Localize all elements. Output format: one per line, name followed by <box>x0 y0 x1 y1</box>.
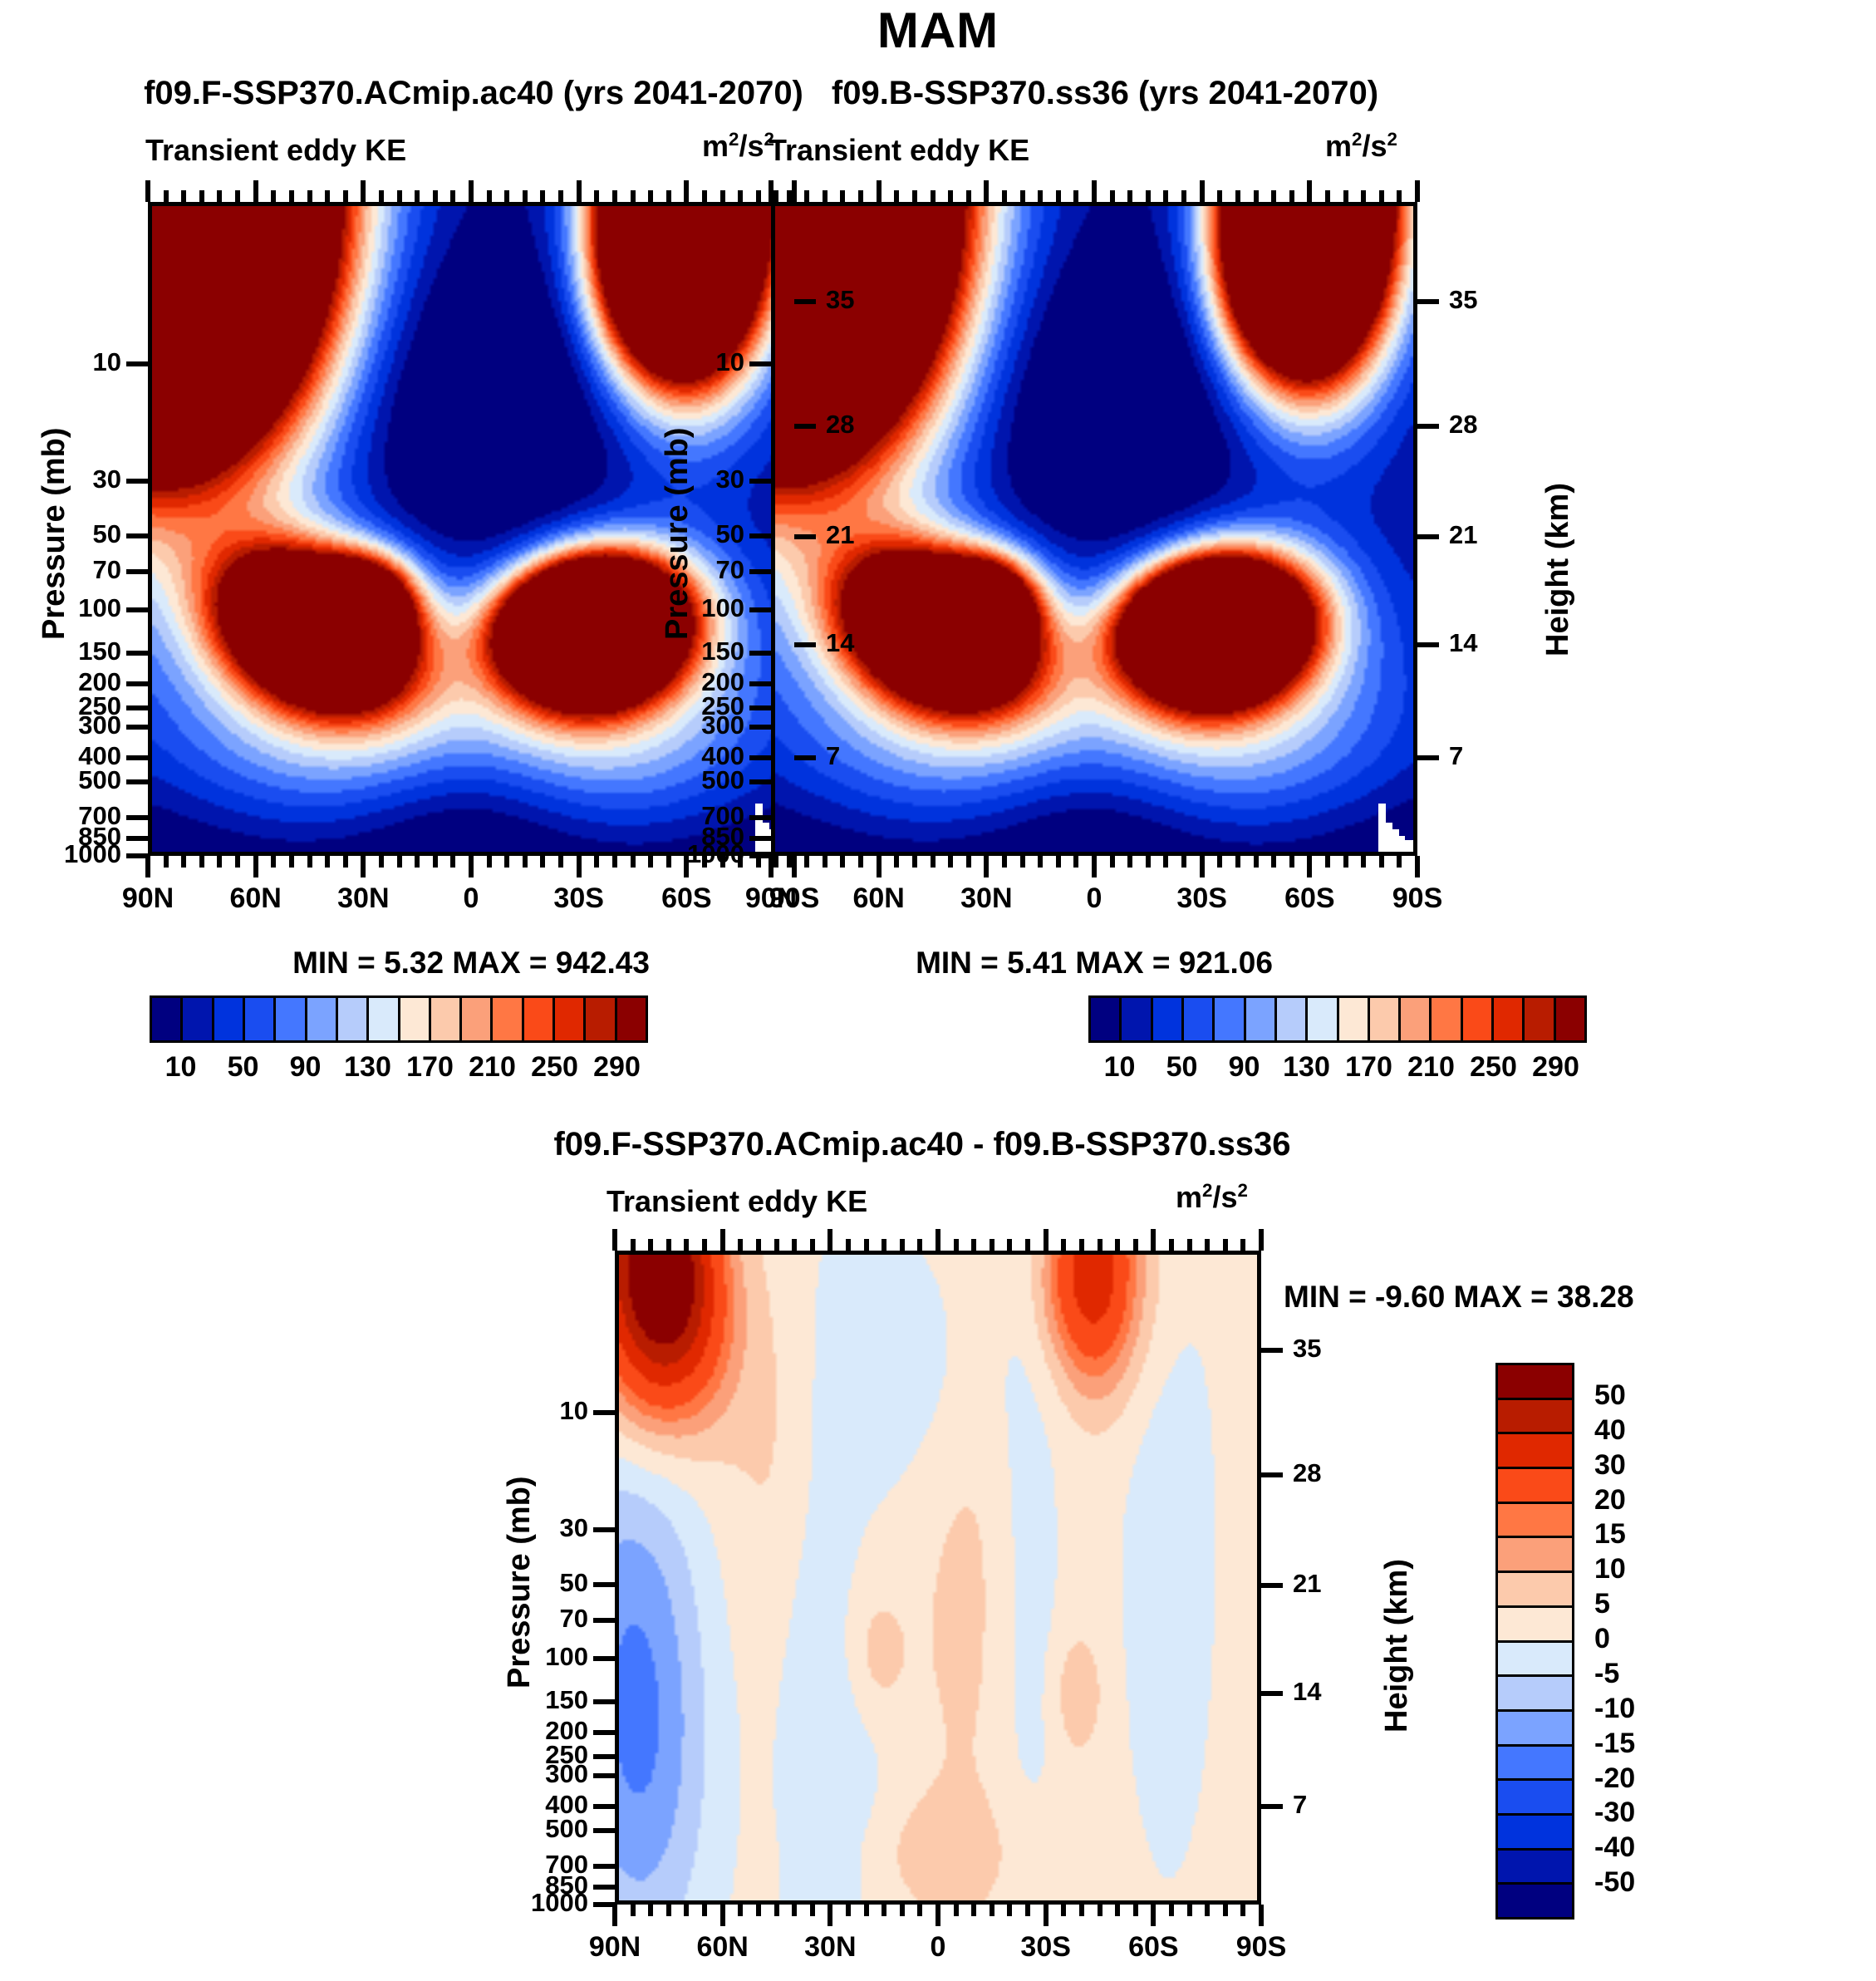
height-tick <box>794 424 816 429</box>
colorbar-tick-label: 290 <box>567 1051 667 1084</box>
latitude-tick-minor-bottom <box>648 1905 653 1916</box>
contour-canvas <box>619 1255 1257 1900</box>
colorbar-cell <box>1091 998 1122 1040</box>
latitude-tick-minor-top <box>1187 1239 1192 1251</box>
height-tick <box>1417 424 1439 429</box>
latitude-tick-major-bottom <box>1151 1905 1156 1926</box>
latitude-tick-minor-bottom <box>1007 1905 1012 1916</box>
latitude-tick-minor-bottom <box>1056 856 1061 868</box>
colorbar-tick-label: 0 <box>1594 1623 1719 1655</box>
latitude-tick-minor-top <box>648 1239 653 1251</box>
latitude-tick-minor-top <box>1127 190 1132 202</box>
pressure-tick <box>126 651 148 656</box>
colorbar-cell <box>1556 998 1584 1040</box>
colorbar-cell <box>369 998 400 1040</box>
latitude-tick-major-bottom <box>828 1905 832 1926</box>
pressure-tick <box>593 1582 615 1587</box>
latitude-tick-minor-top <box>1325 190 1330 202</box>
latitude-tick-minor-top <box>804 190 809 202</box>
latitude-tick-minor-top <box>415 190 420 202</box>
colorbar-cell <box>276 998 307 1040</box>
latitude-tick-minor-top <box>325 190 330 202</box>
latitude-tick-major-top <box>1092 180 1097 202</box>
latitude-tick-minor-top <box>787 190 792 202</box>
latitude-tick-minor-bottom <box>948 856 953 868</box>
latitude-tick-minor-bottom <box>379 856 384 868</box>
panel-top-left-units: m2/s2 <box>702 129 774 164</box>
latitude-tick-minor-top <box>917 1239 922 1251</box>
pressure-tick <box>749 681 771 686</box>
latitude-tick-minor-bottom <box>1025 1905 1030 1916</box>
pressure-tick <box>749 607 771 612</box>
latitude-tick-minor-top <box>846 1239 851 1251</box>
pressure-tick <box>126 479 148 484</box>
latitude-tick-minor-bottom <box>1146 856 1151 868</box>
colorbar-tick-label: -50 <box>1594 1866 1719 1899</box>
latitude-tick-minor-bottom <box>684 1905 689 1916</box>
colorbar-cell <box>1498 1608 1572 1643</box>
panel-top-left-minmax: MIN = 5.32 MAX = 942.43 <box>148 946 794 981</box>
latitude-tick-minor-bottom <box>1079 1905 1084 1916</box>
latitude-tick-minor-bottom <box>415 856 420 868</box>
panel-bottom-diff-colorbar[interactable] <box>1495 1363 1574 1920</box>
panel-top-right-ylabel-right: Height (km) <box>1540 483 1576 656</box>
latitude-tick-minor-bottom <box>1271 856 1276 868</box>
colorbar-cell <box>1153 998 1184 1040</box>
pressure-tick <box>593 1410 615 1415</box>
latitude-tick-minor-bottom <box>1205 1905 1210 1916</box>
colorbar-cell <box>1122 998 1152 1040</box>
latitude-tick-minor-bottom <box>181 856 186 868</box>
latitude-tick-major-bottom <box>1092 856 1097 877</box>
latitude-tick-minor-top <box>1271 190 1276 202</box>
latitude-tick-minor-top <box>1223 1239 1228 1251</box>
latitude-tick-minor-bottom <box>756 1905 761 1916</box>
colorbar-cell <box>152 998 183 1040</box>
height-tick <box>794 642 816 647</box>
latitude-tick-minor-top <box>1115 1239 1120 1251</box>
latitude-tick-major-bottom <box>577 856 582 877</box>
pressure-tick <box>593 1804 615 1809</box>
latitude-tick-major-top <box>361 180 366 202</box>
height-tick <box>794 755 816 760</box>
colorbar-tick-label: -5 <box>1594 1658 1719 1690</box>
latitude-tick-major-bottom <box>936 1905 940 1926</box>
latitude-tick-minor-bottom <box>774 1905 779 1916</box>
latitude-tick-major-bottom <box>1307 856 1312 877</box>
colorbar-tick-label: 50 <box>1594 1379 1719 1412</box>
latitude-tick-minor-top <box>1240 1239 1245 1251</box>
colorbar-tick-label: 10 <box>1594 1553 1719 1585</box>
pressure-tick-label: 500 <box>638 765 744 795</box>
latitude-tick-major-top <box>877 180 882 202</box>
latitude-tick-minor-top <box>1098 1239 1103 1251</box>
colorbar-tick-label: 15 <box>1594 1518 1719 1551</box>
height-tick <box>1417 642 1439 647</box>
latitude-tick-minor-bottom <box>523 856 528 868</box>
latitude-tick-minor-top <box>164 190 169 202</box>
terrain-mask <box>1403 840 1415 853</box>
height-tick <box>1261 1348 1283 1353</box>
latitude-tick-minor-bottom <box>792 1905 797 1916</box>
panel-top-left-colorbar[interactable] <box>150 995 648 1043</box>
height-tick-label: 14 <box>1293 1677 1368 1707</box>
latitude-tick-major-top <box>792 180 797 202</box>
latitude-tick-minor-bottom <box>917 1905 922 1916</box>
pressure-tick-label: 100 <box>638 593 744 623</box>
latitude-tick-minor-bottom <box>289 856 294 868</box>
colorbar-cell <box>493 998 523 1040</box>
latitude-tick-minor-bottom <box>1223 1905 1228 1916</box>
pressure-tick <box>749 569 771 574</box>
colorbar-cell <box>1498 1747 1572 1782</box>
latitude-tick-minor-bottom <box>235 856 240 868</box>
latitude-tick-minor-top <box>756 190 761 202</box>
latitude-tick-minor-bottom <box>1098 1905 1103 1916</box>
panel-top-right-title: f09.B-SSP370.ss36 (yrs 2041-2070) <box>731 75 1479 112</box>
latitude-tick-minor-bottom <box>1343 856 1348 868</box>
pressure-tick <box>749 533 771 538</box>
latitude-tick-minor-top <box>1038 190 1043 202</box>
latitude-tick-minor-bottom <box>558 856 563 868</box>
latitude-tick-minor-bottom <box>773 856 778 868</box>
colorbar-cell <box>1498 1400 1572 1435</box>
latitude-tick-minor-bottom <box>804 856 809 868</box>
height-tick-label: 35 <box>826 285 901 315</box>
latitude-tick-major-bottom <box>1044 1905 1048 1926</box>
latitude-tick-minor-top <box>990 1239 994 1251</box>
latitude-tick-minor-bottom <box>954 1905 959 1916</box>
colorbar-cell <box>1498 1504 1572 1539</box>
colorbar-cell <box>1184 998 1215 1040</box>
latitude-tick-minor-top <box>594 190 599 202</box>
latitude-tick-minor-top <box>882 1239 886 1251</box>
latitude-tick-minor-top <box>648 190 653 202</box>
colorbar-cell <box>214 998 245 1040</box>
figure-title: MAM <box>0 2 1876 59</box>
colorbar-cell <box>1498 1781 1572 1816</box>
height-tick-label: 28 <box>1293 1458 1368 1488</box>
colorbar-cell <box>1215 998 1245 1040</box>
pressure-tick <box>593 1773 615 1778</box>
latitude-tick-minor-top <box>1361 190 1366 202</box>
colorbar-cell <box>1463 998 1494 1040</box>
colorbar-cell <box>1498 1573 1572 1608</box>
latitude-tick-minor-top <box>738 190 743 202</box>
latitude-tick-minor-top <box>271 190 276 202</box>
latitude-tick-minor-bottom <box>738 1905 743 1916</box>
latitude-tick-major-top <box>1307 180 1312 202</box>
pressure-tick-label: 150 <box>482 1685 588 1715</box>
pressure-tick <box>126 755 148 760</box>
latitude-tick-minor-top <box>666 1239 671 1251</box>
colorbar-cell <box>1339 998 1370 1040</box>
colorbar-tick-label: -30 <box>1594 1797 1719 1829</box>
latitude-tick-minor-top <box>1007 1239 1012 1251</box>
latitude-tick-major-bottom <box>769 856 773 877</box>
panel-bottom-diff-contour-field <box>619 1255 1257 1900</box>
pressure-tick <box>126 705 148 710</box>
latitude-tick-major-bottom <box>792 856 797 877</box>
pressure-tick <box>126 815 148 820</box>
pressure-tick <box>593 1864 615 1869</box>
height-tick-label: 35 <box>1449 285 1524 315</box>
height-tick-label: 35 <box>1293 1334 1368 1364</box>
pressure-tick-label: 300 <box>15 710 121 740</box>
colorbar-cell <box>1308 998 1338 1040</box>
height-tick <box>794 299 816 304</box>
latitude-tick-minor-top <box>217 190 222 202</box>
latitude-tick-minor-top <box>858 190 863 202</box>
colorbar-tick-label: -15 <box>1594 1728 1719 1760</box>
pressure-tick <box>126 569 148 574</box>
latitude-tick-major-top <box>720 1229 725 1251</box>
pressure-tick-label: 300 <box>482 1759 588 1789</box>
pressure-tick <box>126 681 148 686</box>
pressure-tick-label: 70 <box>482 1604 588 1634</box>
latitude-tick-major-top <box>1151 1229 1156 1251</box>
latitude-tick-minor-top <box>1235 190 1240 202</box>
height-tick-label: 21 <box>1449 520 1524 550</box>
latitude-tick-minor-bottom <box>1127 856 1132 868</box>
latitude-tick-minor-bottom <box>858 856 863 868</box>
height-tick <box>1261 1804 1283 1809</box>
pressure-tick-label: 100 <box>15 593 121 623</box>
latitude-tick-minor-bottom <box>1217 856 1222 868</box>
pressure-tick-label: 70 <box>638 555 744 585</box>
latitude-tick-minor-bottom <box>702 1905 707 1916</box>
latitude-tick-minor-top <box>289 190 294 202</box>
pressure-tick-label: 150 <box>638 637 744 666</box>
colorbar-cell <box>1498 1469 1572 1504</box>
latitude-tick-minor-top <box>1217 190 1222 202</box>
latitude-tick-minor-bottom <box>540 856 545 868</box>
latitude-tick-minor-top <box>1020 190 1025 202</box>
latitude-tick-minor-bottom <box>343 856 348 868</box>
latitude-tick-minor-top <box>702 190 707 202</box>
latitude-tick-minor-bottom <box>971 1905 976 1916</box>
latitude-tick-minor-bottom <box>217 856 222 868</box>
latitude-tick-minor-top <box>971 1239 976 1251</box>
colorbar-cell <box>1432 998 1462 1040</box>
latitude-tick-major-top <box>828 1229 832 1251</box>
height-tick-label: 28 <box>1449 410 1524 440</box>
colorbar-cell <box>555 998 586 1040</box>
colorbar-cell <box>1498 1851 1572 1885</box>
pressure-tick <box>593 1754 615 1759</box>
colorbar-cell <box>1498 1677 1572 1712</box>
colorbar-cell <box>462 998 493 1040</box>
latitude-tick-major-bottom <box>469 856 474 877</box>
latitude-tick-major-top <box>612 1229 617 1251</box>
pressure-tick-label: 500 <box>482 1814 588 1844</box>
colorbar-tick-label: -40 <box>1594 1831 1719 1864</box>
pressure-tick <box>749 479 771 484</box>
latitude-tick-minor-bottom <box>864 1905 869 1916</box>
latitude-tick-major-top <box>145 180 150 202</box>
latitude-tick-minor-top <box>631 1239 636 1251</box>
height-tick <box>1261 1583 1283 1588</box>
pressure-tick <box>126 725 148 730</box>
latitude-tick-minor-bottom <box>325 856 330 868</box>
latitude-tick-major-bottom <box>720 1905 725 1926</box>
latitude-tick-minor-bottom <box>1115 1905 1120 1916</box>
latitude-tick-minor-bottom <box>1020 856 1025 868</box>
latitude-tick-minor-bottom <box>271 856 276 868</box>
latitude-tick-minor-top <box>1205 1239 1210 1251</box>
colorbar-tick-label: -10 <box>1594 1693 1719 1725</box>
latitude-tick-minor-bottom <box>1002 856 1007 868</box>
latitude-tick-minor-bottom <box>1325 856 1330 868</box>
pressure-tick-label: 10 <box>638 347 744 377</box>
panel-top-right-minmax: MIN = 5.41 MAX = 921.06 <box>771 946 1417 981</box>
pressure-tick <box>593 1656 615 1661</box>
latitude-tick-major-bottom <box>253 856 258 877</box>
pressure-tick-label: 150 <box>15 637 121 666</box>
latitude-tick-minor-bottom <box>840 856 845 868</box>
pressure-tick <box>593 1828 615 1833</box>
latitude-tick-minor-bottom <box>631 856 636 868</box>
latitude-tick-minor-bottom <box>1187 1905 1192 1916</box>
latitude-tick-minor-bottom <box>307 856 312 868</box>
panel-bottom-diff-ylabel-right: Height (km) <box>1379 1559 1415 1733</box>
latitude-tick-minor-bottom <box>1110 856 1115 868</box>
latitude-tick-minor-bottom <box>966 856 971 868</box>
colorbar-cell <box>1246 998 1277 1040</box>
latitude-tick-major-bottom <box>1415 856 1420 877</box>
latitude-tick-major-top <box>1415 180 1420 202</box>
pressure-tick-label: 50 <box>482 1568 588 1598</box>
latitude-tick-minor-top <box>1025 1239 1030 1251</box>
pressure-tick <box>749 779 771 784</box>
colorbar-cell <box>183 998 214 1040</box>
latitude-tick-minor-bottom <box>164 856 169 868</box>
pressure-tick <box>126 361 148 366</box>
colorbar-cell <box>1498 1538 1572 1573</box>
colorbar-cell <box>1370 998 1401 1040</box>
pressure-tick-label: 1000 <box>15 839 121 869</box>
latitude-tick-minor-bottom <box>1038 856 1043 868</box>
latitude-tick-minor-top <box>1163 190 1168 202</box>
latitude-tick-minor-bottom <box>1235 856 1240 868</box>
latitude-tick-major-bottom <box>145 856 150 877</box>
latitude-tick-minor-bottom <box>504 856 509 868</box>
height-tick <box>1261 1691 1283 1696</box>
latitude-tick-major-top <box>1200 180 1205 202</box>
pressure-tick <box>749 361 771 366</box>
latitude-tick-minor-top <box>1056 190 1061 202</box>
panel-bottom-diff-minmax: MIN = -9.60 MAX = 38.28 <box>1284 1280 1799 1315</box>
colorbar-tick-label: 30 <box>1594 1449 1719 1482</box>
pressure-tick-label: 1000 <box>638 839 744 869</box>
colorbar-tick-label: 5 <box>1594 1588 1719 1620</box>
pressure-tick <box>749 755 771 760</box>
pressure-tick <box>593 1618 615 1623</box>
latitude-tick-minor-top <box>840 190 845 202</box>
pressure-tick-label: 30 <box>482 1513 588 1543</box>
latitude-tick-minor-top <box>612 190 617 202</box>
latitude-tick-minor-top <box>558 190 563 202</box>
latitude-tick-minor-top <box>756 1239 761 1251</box>
latitude-tick-minor-top <box>1343 190 1348 202</box>
latitude-tick-minor-top <box>343 190 348 202</box>
latitude-tick-minor-top <box>720 190 725 202</box>
latitude-tick-minor-bottom <box>433 856 438 868</box>
height-tick-label: 28 <box>826 410 901 440</box>
panel-top-right-units: m2/s2 <box>1325 129 1397 164</box>
latitude-tick-minor-bottom <box>900 1905 905 1916</box>
latitude-tick-minor-top <box>1133 1239 1138 1251</box>
latitude-tick-minor-bottom <box>666 1905 671 1916</box>
latitude-tick-major-bottom <box>612 1905 617 1926</box>
latitude-tick-major-bottom <box>1259 1905 1264 1926</box>
latitude-tick-minor-top <box>450 190 455 202</box>
colorbar-cell <box>1498 1816 1572 1851</box>
pressure-tick-label: 100 <box>482 1642 588 1672</box>
latitude-tick-minor-top <box>487 190 492 202</box>
latitude-tick-minor-top <box>1146 190 1151 202</box>
latitude-tick-minor-bottom <box>612 856 617 868</box>
pressure-tick <box>126 779 148 784</box>
latitude-tick-minor-top <box>1079 1239 1084 1251</box>
pressure-tick-label: 30 <box>15 465 121 494</box>
height-tick <box>1417 534 1439 539</box>
latitude-tick-minor-top <box>912 190 917 202</box>
colorbar-cell <box>400 998 431 1040</box>
latitude-tick-minor-bottom <box>487 856 492 868</box>
height-tick-label: 14 <box>1449 628 1524 658</box>
colorbar-cell <box>1525 998 1555 1040</box>
height-tick-label: 14 <box>826 628 901 658</box>
latitude-tick-major-top <box>1044 1229 1048 1251</box>
pressure-tick <box>749 815 771 820</box>
colorbar-cell <box>1498 1643 1572 1678</box>
latitude-tick-minor-top <box>199 190 204 202</box>
pressure-tick <box>749 705 771 710</box>
latitude-tick-major-top <box>684 180 689 202</box>
pressure-tick-label: 500 <box>15 765 121 795</box>
panel-bottom-diff-units: m2/s2 <box>1176 1180 1248 1215</box>
colorbar-tick-label: 40 <box>1594 1414 1719 1447</box>
latitude-tick-minor-top <box>684 1239 689 1251</box>
panel-top-right-colorbar[interactable] <box>1088 995 1587 1043</box>
panel-bottom-diff-title: f09.F-SSP370.ACmip.ac40 - f09.B-SSP370.s… <box>465 1126 1379 1163</box>
pressure-tick-label: 300 <box>638 710 744 740</box>
latitude-tick-minor-top <box>773 190 778 202</box>
panel-top-left-variable-label: Transient eddy KE <box>145 133 406 168</box>
latitude-tick-minor-bottom <box>397 856 402 868</box>
colorbar-cell <box>1498 1434 1572 1469</box>
colorbar-cell <box>245 998 276 1040</box>
pressure-tick <box>126 836 148 841</box>
latitude-tick-minor-bottom <box>1133 1905 1138 1916</box>
pressure-tick-label: 50 <box>638 519 744 549</box>
pressure-tick <box>126 533 148 538</box>
height-tick-label: 7 <box>1293 1790 1368 1820</box>
latitude-tick-label: 90S <box>1343 882 1492 915</box>
latitude-tick-minor-bottom <box>1073 856 1078 868</box>
colorbar-cell <box>1401 998 1432 1040</box>
latitude-tick-label: 90S <box>1186 1931 1336 1964</box>
latitude-tick-minor-top <box>1169 1239 1174 1251</box>
pressure-tick-label: 10 <box>482 1396 588 1426</box>
height-tick <box>1261 1472 1283 1477</box>
latitude-tick-minor-top <box>433 190 438 202</box>
colorbar-tick-label: 290 <box>1506 1051 1606 1084</box>
pressure-tick-label: 1000 <box>482 1888 588 1918</box>
latitude-tick-minor-bottom <box>846 1905 851 1916</box>
colorbar-cell <box>1498 1365 1572 1400</box>
